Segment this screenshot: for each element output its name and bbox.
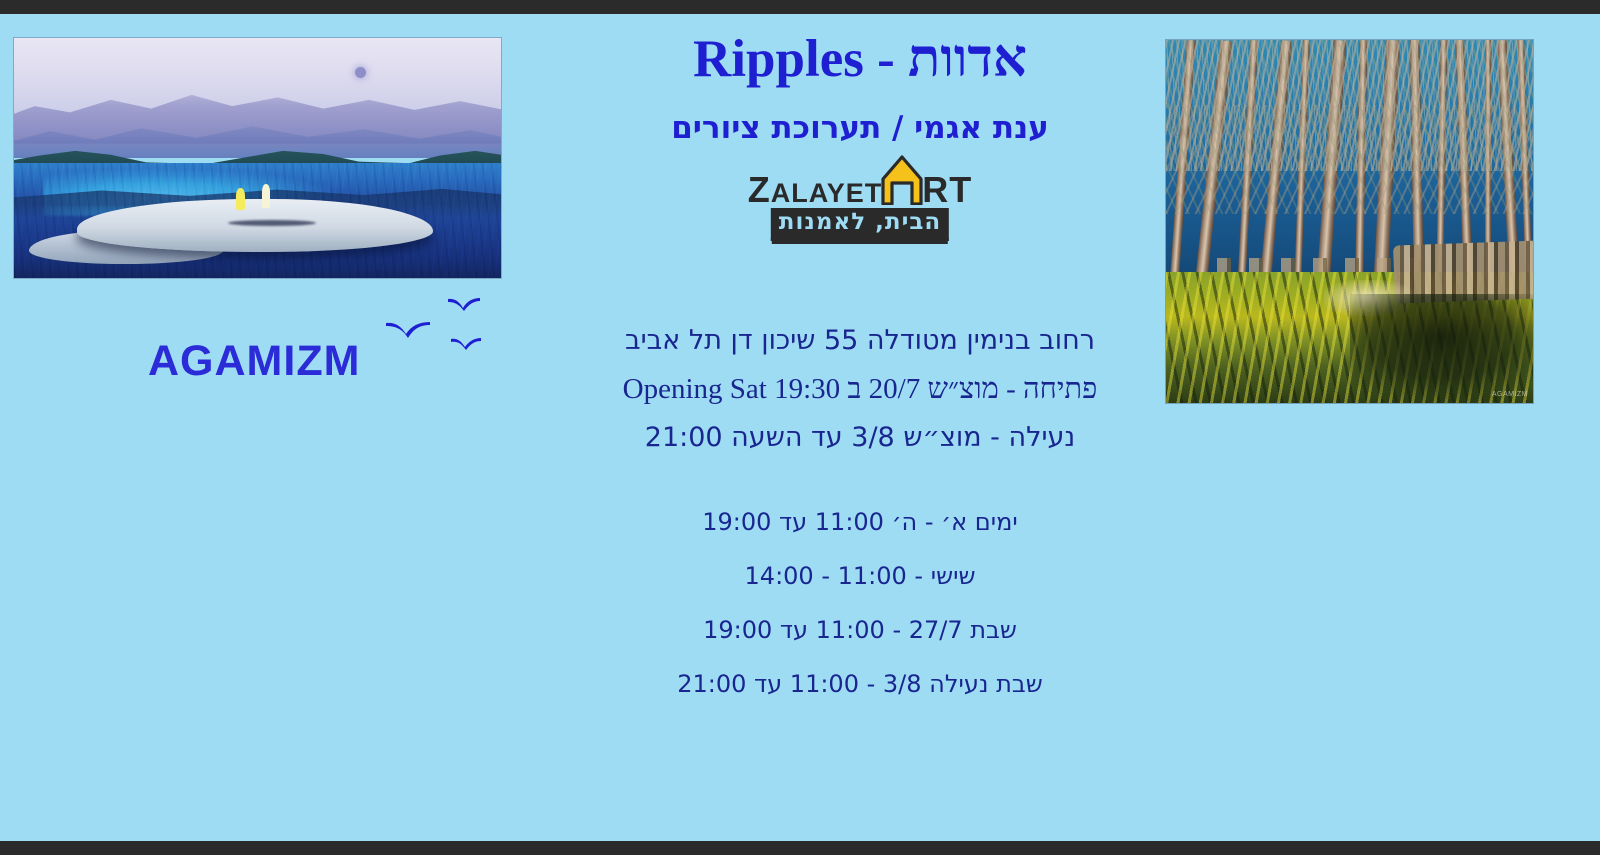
address-line: רחוב בנימין מטודלה 55 שיכון דן תל אביב: [480, 318, 1240, 364]
bottom-letterbox-bar: [0, 841, 1600, 855]
closing-line: נעילה - מוצ״ש 3/8 עד השעה 21:00: [480, 415, 1240, 461]
seascape-painting[interactable]: [14, 38, 501, 278]
figure-yellow: [236, 188, 245, 210]
flyer-canvas: AGAMIZM AGAMIZM אדוות - Ri: [0, 14, 1600, 841]
event-details: רחוב בנימין מטודלה 55 שיכון דן תל אביב פ…: [480, 318, 1240, 461]
gallery-logo[interactable]: ZALAYET RT הבית, לאמנות: [480, 168, 1240, 254]
artist-mark: AGAMIZM: [140, 289, 500, 404]
figure-white: [262, 184, 270, 208]
hours-row: שבת נעילה 3/8 - 11:00 עד 21:00: [480, 657, 1240, 711]
house-roof-icon: [881, 168, 923, 204]
gallery-logo-hebrew: הבית, לאמנות: [771, 208, 949, 241]
opening-line: פתיחה - מוצ״ש 20/7 ב 19:30 Opening Sat: [480, 365, 1240, 415]
hours-row: שישי - 11:00 - 14:00: [480, 549, 1240, 603]
page-subtitle: ענת אגמי / תערוכת ציורים: [480, 110, 1240, 146]
page-title: אדוות - Ripples: [480, 30, 1240, 88]
logo-letters-alayet: ALAYET: [771, 178, 883, 208]
logo-letter-z: Z: [748, 169, 771, 210]
hours-row: ימים א׳ - ה׳ 11:00 עד 19:00: [480, 495, 1240, 549]
flyer-content: אדוות - Ripples ענת אגמי / תערוכת ציורים…: [480, 14, 1240, 841]
exhibition-flyer: AGAMIZM AGAMIZM אדוות - Ri: [0, 0, 1600, 855]
top-letterbox-bar: [0, 0, 1600, 14]
opening-hours: ימים א׳ - ה׳ 11:00 עד 19:00 שישי - 11:00…: [480, 495, 1240, 711]
gallery-logo-wordmark: ZALAYET RT: [748, 168, 973, 208]
hours-row: שבת 27/7 - 11:00 עד 19:00: [480, 603, 1240, 657]
logo-letters-rt: RT: [922, 169, 972, 210]
bird-icon: [385, 317, 431, 339]
agamizm-wordmark: AGAMIZM: [148, 337, 360, 386]
forest-shadow-mass: [1350, 294, 1534, 403]
bird-icon: [447, 295, 481, 312]
bird-icon: [450, 335, 482, 351]
painting-signature: AGAMIZM: [1492, 391, 1528, 398]
moon-icon: [355, 67, 366, 78]
